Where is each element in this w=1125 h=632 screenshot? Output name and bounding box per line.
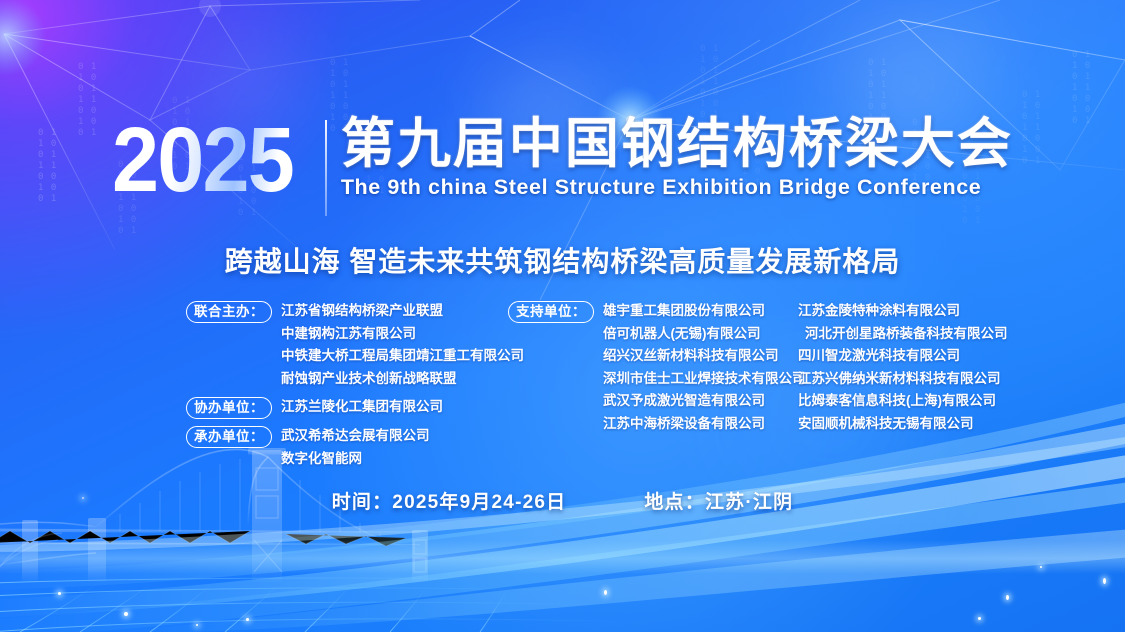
joint-host-items: 江苏省钢结构桥梁产业联盟 中建钢构江苏有限公司 中铁建大桥工程局集团靖江重工有限… bbox=[281, 300, 524, 390]
sparkle-dot bbox=[1103, 578, 1106, 584]
list-item: 江苏省钢结构桥梁产业联盟 bbox=[281, 300, 524, 323]
undertaker-group: 承办单位： 武汉希希达会展有限公司 数字化智能网 bbox=[186, 425, 506, 470]
co-organizer-items: 江苏兰陵化工集团有限公司 bbox=[281, 396, 443, 419]
sparkle-dot bbox=[246, 618, 249, 621]
joint-host-label: 联合主办： bbox=[186, 301, 272, 323]
list-item: 江苏中海桥梁设备有限公司 bbox=[603, 413, 806, 436]
list-item: 倍可机器人(无锡)有限公司 bbox=[603, 323, 806, 346]
supporters-items-column-1: 雄宇重工集团股份有限公司 倍可机器人(无锡)有限公司 绍兴汉丝新材料科技有限公司… bbox=[603, 300, 806, 435]
binary-column: 0 1 1 0 0 1 1 1 0 0 1 0 0 1 bbox=[1072, 50, 1091, 127]
undertaker-items: 武汉希希达会展有限公司 数字化智能网 bbox=[281, 425, 430, 470]
organizer-column-left: 联合主办： 江苏省钢结构桥梁产业联盟 中建钢构江苏有限公司 中铁建大桥工程局集团… bbox=[186, 300, 506, 471]
list-item: 武汉予成激光智造有限公司 bbox=[603, 390, 806, 413]
organizer-column-middle: 支持单位： 雄宇重工集团股份有限公司 倍可机器人(无锡)有限公司 绍兴汉丝新材料… bbox=[508, 300, 798, 436]
co-organizer-label: 协办单位： bbox=[186, 397, 272, 419]
undertaker-label: 承办单位： bbox=[186, 426, 272, 448]
sparkle-dot bbox=[604, 590, 607, 595]
sparkle-dot bbox=[978, 617, 981, 620]
list-item: 安固顺机械科技无锡有限公司 bbox=[798, 413, 1028, 436]
sparkle-dot bbox=[1006, 595, 1009, 600]
list-item: 河北开创星路桥装备科技有限公司 bbox=[798, 323, 1028, 346]
title-divider bbox=[325, 120, 327, 216]
list-item: 比姆泰客信息科技(上海)有限公司 bbox=[798, 390, 1028, 413]
list-item: 绍兴汉丝新材料科技有限公司 bbox=[603, 345, 806, 368]
list-item: 深圳市佳士工业焊接技术有限公司 bbox=[603, 368, 806, 391]
binary-column: 0 1 1 0 0 1 1 1 0 0 1 0 0 1 bbox=[700, 44, 719, 121]
list-item: 中铁建大桥工程局集团靖江重工有限公司 bbox=[281, 345, 524, 368]
list-item: 江苏兰陵化工集团有限公司 bbox=[281, 396, 443, 419]
organizer-column-right: 江苏金陵特种涂料有限公司 河北开创星路桥装备科技有限公司 四川智龙激光科技有限公… bbox=[798, 300, 1028, 435]
co-organizer-group: 协办单位： 江苏兰陵化工集团有限公司 bbox=[186, 396, 506, 419]
supporters-group: 支持单位： 雄宇重工集团股份有限公司 倍可机器人(无锡)有限公司 绍兴汉丝新材料… bbox=[508, 300, 798, 435]
event-date: 时间：2025年9月24-26日 bbox=[332, 487, 567, 514]
conference-title-cn: 第九届中国钢结构桥梁大会 bbox=[341, 116, 1013, 172]
list-item: 江苏金陵特种涂料有限公司 bbox=[798, 300, 1028, 323]
footer-info: 时间：2025年9月24-26日 地点：江苏·江阴 bbox=[0, 487, 1125, 514]
event-location: 地点：江苏·江阴 bbox=[644, 487, 793, 514]
title-block: 2025 第九届中国钢结构桥梁大会 The 9th china Steel St… bbox=[0, 118, 1125, 216]
list-item: 武汉希希达会展有限公司 bbox=[281, 425, 430, 448]
organizers-section: 联合主办： 江苏省钢结构桥梁产业联盟 中建钢构江苏有限公司 中铁建大桥工程局集团… bbox=[0, 300, 1125, 450]
sparkle-dot bbox=[196, 624, 198, 626]
sparkle-dot bbox=[1040, 566, 1042, 568]
conference-title-en: The 9th china Steel Structure Exhibition… bbox=[341, 175, 1013, 200]
list-item: 江苏兴佛纳米新材料科技有限公司 bbox=[798, 368, 1028, 391]
year-2025: 2025 bbox=[112, 118, 298, 203]
conference-slogan: 跨越山海 智造未来共筑钢结构桥梁高质量发展新格局 bbox=[0, 240, 1125, 280]
list-item: 雄宇重工集团股份有限公司 bbox=[603, 300, 806, 323]
sparkle-dot bbox=[124, 612, 128, 616]
list-item: 四川智龙激光科技有限公司 bbox=[798, 345, 1028, 368]
joint-host-group: 联合主办： 江苏省钢结构桥梁产业联盟 中建钢构江苏有限公司 中铁建大桥工程局集团… bbox=[186, 300, 506, 390]
list-item: 数字化智能网 bbox=[281, 448, 430, 471]
supporters-items-column-2: 江苏金陵特种涂料有限公司 河北开创星路桥装备科技有限公司 四川智龙激光科技有限公… bbox=[798, 300, 1028, 435]
list-item: 耐蚀钢产业技术创新战略联盟 bbox=[281, 368, 524, 391]
list-item: 中建钢构江苏有限公司 bbox=[281, 323, 524, 346]
sparkle-dot bbox=[58, 592, 61, 595]
supporters-label: 支持单位： bbox=[508, 301, 594, 323]
conference-poster: 0 1 1 0 0 1 1 1 0 0 1 0 0 1 0 1 1 0 0 1 … bbox=[0, 0, 1125, 632]
